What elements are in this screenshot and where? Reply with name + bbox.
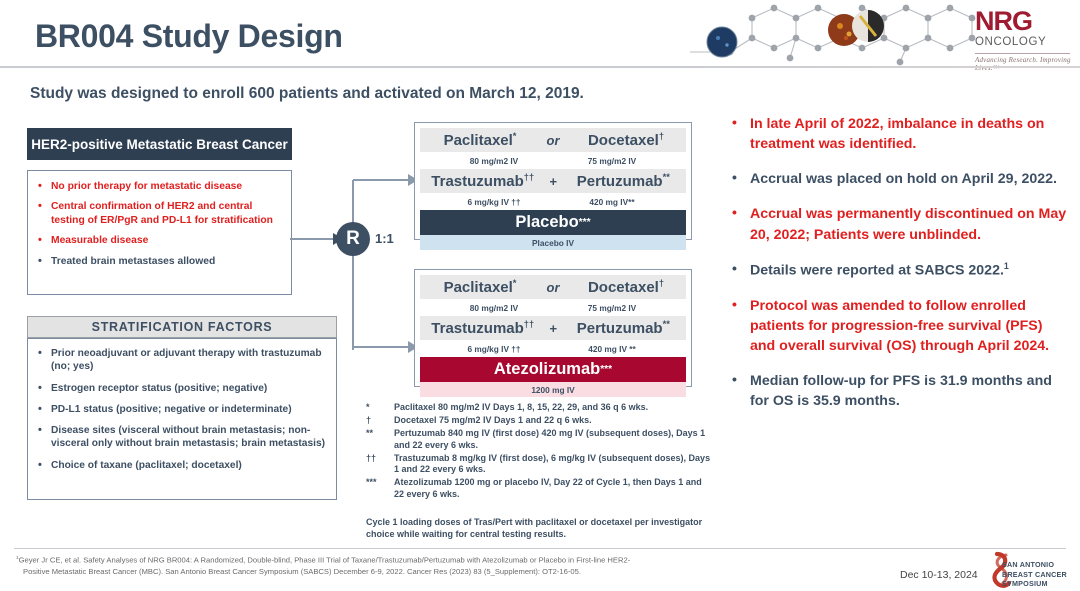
antibody-row: Trastuzumab†† + Pertuzumab** — [420, 316, 686, 340]
footnote-text: Atezolizumab 1200 mg or placebo IV, Day … — [394, 477, 711, 501]
drug-docetaxel: Docetaxel† — [574, 278, 679, 296]
sabcs-logo-text: SAN ANTONIOBREAST CANCERSYMPOSIUM — [1002, 560, 1067, 589]
drug-docetaxel: Docetaxel† — [574, 131, 679, 149]
footnote-text: Trastuzumab 8 mg/kg IV (first dose), 6 m… — [394, 453, 711, 477]
randomization-label: R — [346, 228, 360, 250]
list-item: Median follow-up for PFS is 31.9 months … — [728, 371, 1068, 411]
timeline-bullets: In late April of 2022, imbalance in deat… — [728, 114, 1068, 426]
or-separator: or — [547, 133, 560, 148]
dose-paclitaxel: 80 mg/m2 IV — [435, 303, 553, 313]
placebo-banner: Placebo*** — [420, 210, 686, 235]
timeline-list: In late April of 2022, imbalance in deat… — [728, 114, 1068, 411]
cycle-one-loading-note: Cycle 1 loading doses of Tras/Pert with … — [366, 516, 706, 540]
nrg-oncology-logo: NRG ONCOLOGY Advancing Research. Improvi… — [975, 8, 1075, 72]
list-item: Treated brain metastases allowed — [36, 255, 281, 268]
slide-header: BR004 Study Design — [0, 0, 1080, 72]
stratification-list: Prior neoadjuvant or adjuvant therapy wi… — [36, 347, 328, 472]
footnote-text: Pertuzumab 840 mg IV (first dose) 420 mg… — [394, 428, 711, 452]
taxane-row: Paclitaxel* or Docetaxel† — [420, 128, 686, 152]
footnote-marker: ** — [366, 428, 394, 452]
nrg-logo-tagline: Advancing Research. Improving Lives.™ — [975, 56, 1075, 72]
footnote-row: *** Atezolizumab 1200 mg or placebo IV, … — [366, 477, 711, 501]
randomization-ratio: 1:1 — [375, 231, 394, 246]
list-item: Estrogen receptor status (positive; nega… — [36, 382, 328, 395]
slide-subtitle: Study was designed to enroll 600 patient… — [30, 85, 584, 103]
footnote-text: Docetaxel 75 mg/m2 IV Days 1 and 22 q 6 … — [394, 415, 592, 427]
footnote-marker: †† — [366, 453, 394, 477]
citation-line-1: Geyer Jr CE, et al. Safety Analyses of N… — [19, 556, 631, 565]
drug-pertuzumab: Pertuzumab** — [571, 172, 676, 190]
randomization-node: R — [336, 222, 370, 256]
list-item: No prior therapy for metastatic disease — [36, 180, 281, 193]
header-divider — [0, 66, 1080, 68]
list-item: Details were reported at SABCS 2022.1 — [728, 260, 1068, 281]
placebo-subband: Placebo IV — [420, 235, 686, 250]
footnote-marker: *** — [366, 477, 394, 501]
plus-separator: + — [549, 174, 557, 189]
taxane-dose-row: 80 mg/m2 IV 75 mg/m2 IV — [420, 299, 686, 316]
footnote-marker: † — [366, 415, 394, 427]
drug-paclitaxel: Paclitaxel* — [428, 131, 533, 149]
list-item: PD-L1 status (positive; negative or inde… — [36, 403, 328, 416]
antibody-row: Trastuzumab†† + Pertuzumab** — [420, 169, 686, 193]
treatment-arm-atezolizumab: Paclitaxel* or Docetaxel† 80 mg/m2 IV 75… — [414, 269, 692, 387]
eligibility-header-label: HER2-positive Metastatic Breast Cancer — [31, 137, 288, 152]
drug-pertuzumab: Pertuzumab** — [571, 319, 676, 337]
antibody-dose-row: 6 mg/kg IV †† 420 mg IV** — [420, 193, 686, 210]
list-item: Measurable disease — [36, 234, 281, 247]
dose-docetaxel: 75 mg/m2 IV — [553, 303, 671, 313]
list-item: Central confirmation of HER2 and central… — [36, 200, 281, 227]
reference-citation: 1Geyer Jr CE, et al. Safety Analyses of … — [16, 554, 896, 577]
stratification-header-label: STRATIFICATION FACTORS — [92, 320, 273, 334]
dose-trastuzumab: 6 mg/kg IV †† — [435, 197, 553, 207]
conference-date: Dec 10-13, 2024 — [900, 569, 978, 581]
dose-docetaxel: 75 mg/m2 IV — [553, 156, 671, 166]
footnote-marker: * — [366, 402, 394, 414]
list-item: In late April of 2022, imbalance in deat… — [728, 114, 1068, 154]
nrg-logo-sub: ONCOLOGY — [975, 35, 1075, 50]
dose-paclitaxel: 80 mg/m2 IV — [435, 156, 553, 166]
dose-pertuzumab: 420 mg IV ** — [553, 344, 671, 354]
footnote-row: * Paclitaxel 80 mg/m2 IV Days 1, 8, 15, … — [366, 402, 711, 414]
footnote-row: ** Pertuzumab 840 mg IV (first dose) 420… — [366, 428, 711, 452]
antibody-dose-row: 6 mg/kg IV †† 420 mg IV ** — [420, 340, 686, 357]
dosing-footnotes: * Paclitaxel 80 mg/m2 IV Days 1, 8, 15, … — [366, 402, 711, 502]
list-item: Accrual was permanently discontinued on … — [728, 204, 1068, 244]
dose-trastuzumab: 6 mg/kg IV †† — [435, 344, 553, 354]
atezolizumab-banner: Atezolizumab*** — [420, 357, 686, 382]
list-item: Prior neoadjuvant or adjuvant therapy wi… — [36, 347, 328, 374]
taxane-dose-row: 80 mg/m2 IV 75 mg/m2 IV — [420, 152, 686, 169]
citation-line-2: Positive Metastatic Breast Cancer (MBC).… — [16, 566, 896, 577]
footnote-text: Paclitaxel 80 mg/m2 IV Days 1, 8, 15, 22… — [394, 402, 648, 414]
or-separator: or — [547, 280, 560, 295]
drug-trastuzumab: Trastuzumab†† — [430, 172, 535, 190]
drug-trastuzumab: Trastuzumab†† — [430, 319, 535, 337]
nrg-logo-divider — [975, 53, 1070, 54]
list-item: Choice of taxane (paclitaxel; docetaxel) — [36, 459, 328, 472]
dose-pertuzumab: 420 mg IV** — [553, 197, 671, 207]
footnote-row: †† Trastuzumab 8 mg/kg IV (first dose), … — [366, 453, 711, 477]
list-item: Accrual was placed on hold on April 29, … — [728, 169, 1068, 189]
randomization-connectors — [290, 120, 420, 420]
eligibility-header: HER2-positive Metastatic Breast Cancer — [27, 128, 292, 160]
molecular-chain-graphic — [690, 0, 990, 68]
taxane-row: Paclitaxel* or Docetaxel† — [420, 275, 686, 299]
footer-divider — [14, 548, 1066, 549]
treatment-arm-placebo: Paclitaxel* or Docetaxel† 80 mg/m2 IV 75… — [414, 122, 692, 240]
list-item: Disease sites (visceral without brain me… — [36, 424, 328, 451]
drug-paclitaxel: Paclitaxel* — [428, 278, 533, 296]
footnote-row: † Docetaxel 75 mg/m2 IV Days 1 and 22 q … — [366, 415, 711, 427]
nrg-logo-name: NRG — [975, 8, 1075, 35]
eligibility-criteria-box: No prior therapy for metastatic disease … — [27, 170, 292, 295]
atezolizumab-subband: 1200 mg IV — [420, 382, 686, 397]
page-title: BR004 Study Design — [35, 18, 343, 55]
list-item: Protocol was amended to follow enrolled … — [728, 296, 1068, 356]
plus-separator: + — [549, 321, 557, 336]
eligibility-list: No prior therapy for metastatic disease … — [36, 180, 281, 268]
